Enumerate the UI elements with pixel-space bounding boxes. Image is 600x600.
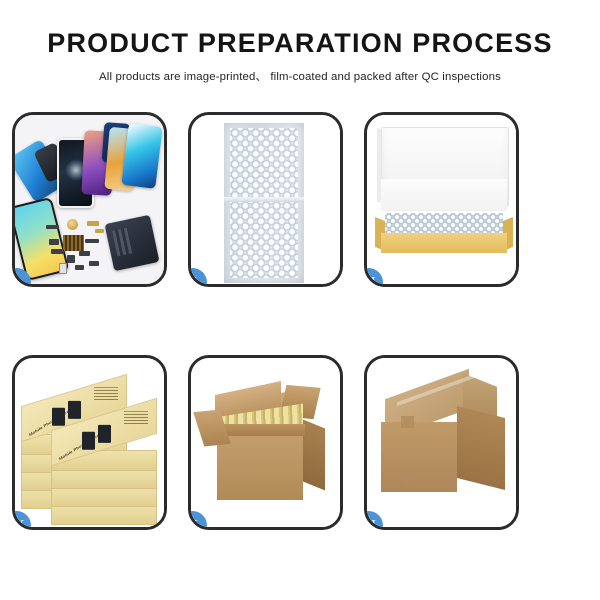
- carton-front-face: [381, 422, 457, 492]
- process-step-1: I: [12, 112, 167, 287]
- step-badge-6: VI: [367, 511, 383, 527]
- page-title: PRODUCT PREPARATION PROCESS: [0, 30, 600, 57]
- stacked-box: [51, 486, 157, 507]
- box-label-lines: [94, 387, 118, 401]
- foam-pad: [381, 179, 507, 211]
- box-label-image: [98, 425, 111, 443]
- flex-cable: [95, 229, 104, 233]
- step-badge-5: V: [191, 511, 207, 527]
- carton-tab: [403, 472, 416, 483]
- carton-side: [303, 420, 325, 491]
- process-step-5: V: [188, 355, 343, 530]
- stacked-box: [51, 468, 157, 489]
- step-1-image: I: [15, 115, 164, 284]
- part-chip: [89, 261, 99, 266]
- process-step-6: VI: [364, 355, 519, 530]
- part-chip: [79, 251, 90, 256]
- box-label-image: [68, 401, 81, 419]
- carton-flap-front: [217, 424, 305, 436]
- bubble-wrapped-contents: [385, 213, 503, 235]
- part-chip: [75, 265, 84, 270]
- phone-rear-housing: [105, 215, 160, 272]
- step-4-image: Mobile Phone Spare Parts Mobile Phone Sp…: [15, 358, 164, 527]
- process-step-3: III: [364, 112, 519, 287]
- box-label-image: [82, 432, 95, 450]
- box-front-panel: [381, 233, 507, 253]
- part-chip: [85, 239, 99, 243]
- carton-tab: [401, 416, 414, 428]
- step-6-image: VI: [367, 358, 516, 527]
- phone-screen-cyan: [121, 123, 162, 189]
- poster-root: PRODUCT PREPARATION PROCESS All products…: [0, 0, 600, 600]
- part-chip: [49, 239, 59, 245]
- header: PRODUCT PREPARATION PROCESS All products…: [0, 0, 600, 84]
- process-grid: I II III: [12, 112, 588, 530]
- flex-cable: [87, 221, 99, 226]
- part-chip: [51, 249, 64, 254]
- camera-module-icon: [67, 219, 78, 230]
- box-stack: Mobile Phone Spare Parts Mobile Phone Sp…: [19, 366, 164, 524]
- connector-grid: [63, 235, 84, 251]
- box-label-lines: [124, 411, 148, 425]
- part-chip: [46, 225, 59, 229]
- page-subtitle: All products are image-printed、 film-coa…: [0, 68, 600, 84]
- carton-side-face: [457, 406, 505, 490]
- stacked-box: [51, 504, 157, 525]
- sim-tray: [59, 263, 67, 274]
- step-badge-2: II: [191, 268, 207, 284]
- pouch-seam: [224, 197, 304, 202]
- bubble-pattern: [230, 128, 298, 278]
- step-5-image: V: [191, 358, 340, 527]
- bubble-wrap-pouch: [224, 123, 304, 283]
- part-chip: [67, 255, 75, 263]
- step-badge-3: III: [367, 268, 383, 284]
- process-step-4: Mobile Phone Spare Parts Mobile Phone Sp…: [12, 355, 167, 530]
- box-label-image: [52, 408, 65, 426]
- process-step-2: II: [188, 112, 343, 287]
- step-2-image: II: [191, 115, 340, 284]
- step-3-image: III: [367, 115, 516, 284]
